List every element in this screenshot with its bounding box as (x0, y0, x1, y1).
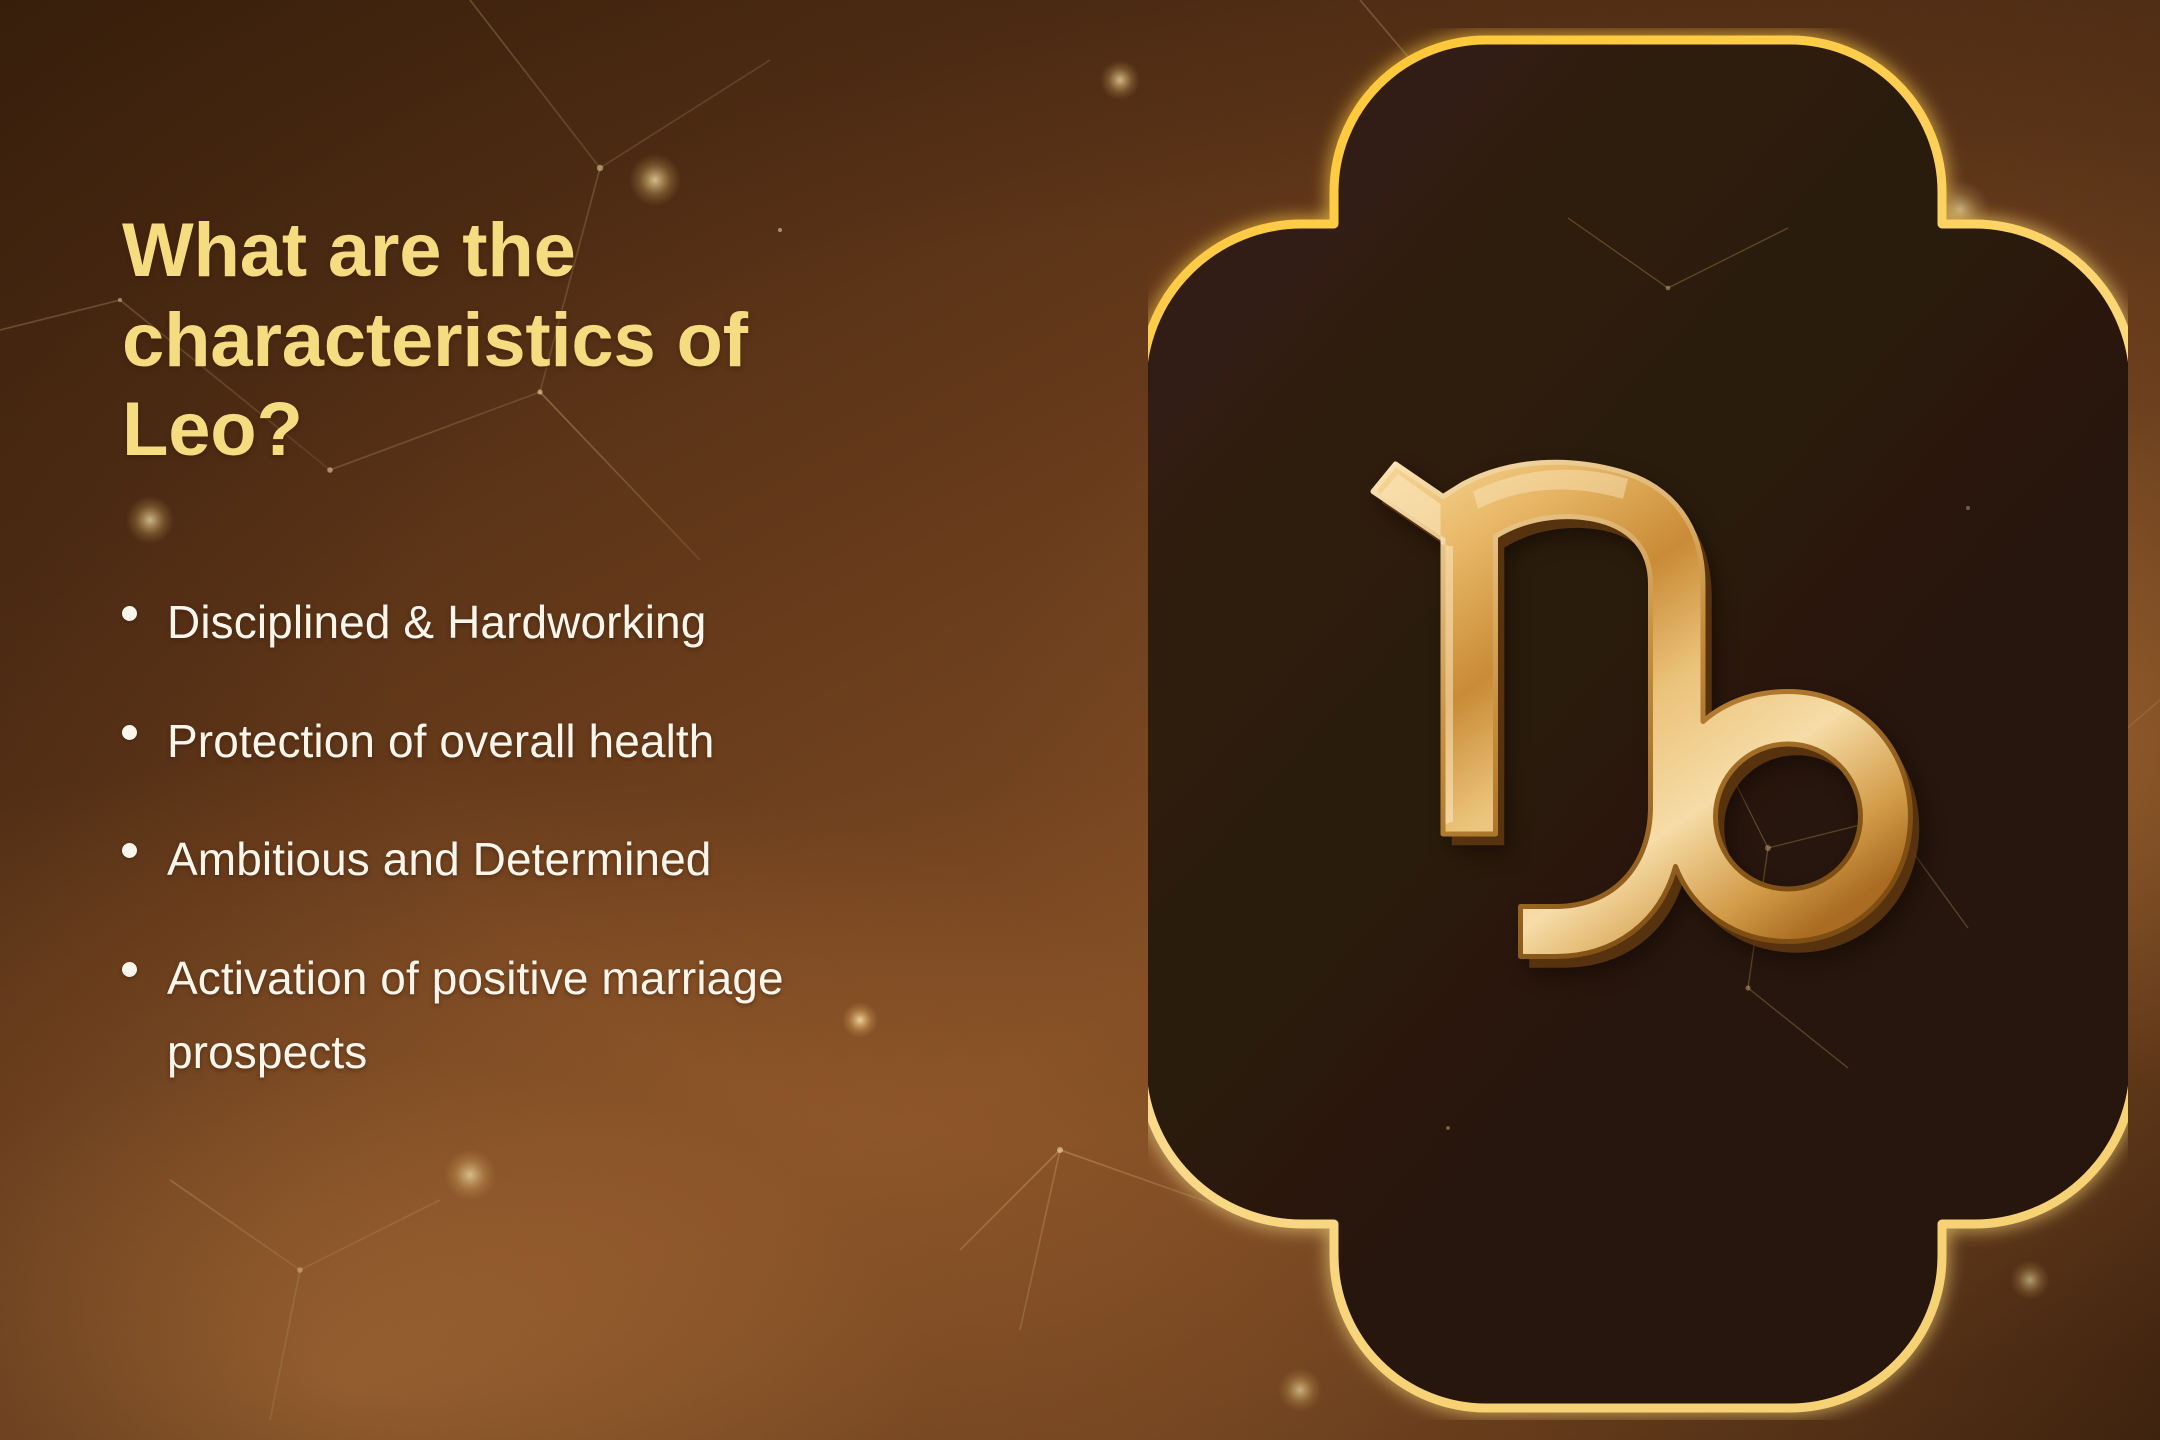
list-item-label: Ambitious and Determined (167, 822, 711, 897)
bullet-dot-icon (122, 725, 137, 740)
list-item-label: Protection of overall health (167, 704, 714, 779)
list-item: Disciplined & Hardworking (122, 585, 1102, 660)
list-item: Protection of overall health (122, 704, 1102, 779)
list-item-label: Disciplined & Hardworking (167, 585, 706, 660)
capricorn-zodiac-glyph-icon (1323, 409, 1963, 1049)
slide-canvas: What are the characteristics of Leo? Dis… (0, 0, 2160, 1440)
zodiac-symbol-container (1148, 28, 2128, 1420)
bullet-dot-icon (122, 606, 137, 621)
characteristics-list: Disciplined & Hardworking Protection of … (122, 585, 1102, 1090)
page-title-line-2: characteristics of (122, 298, 748, 383)
content-column: What are the characteristics of Leo? Dis… (122, 206, 1102, 1134)
list-item: Ambitious and Determined (122, 822, 1102, 897)
list-item: Activation of positive marriage prospect… (122, 941, 1102, 1090)
page-title-line-3: Leo? (122, 387, 303, 472)
list-item-label: Activation of positive marriage prospect… (167, 941, 957, 1090)
zodiac-card (1148, 28, 2128, 1420)
page-title-line-1: What are the (122, 208, 576, 293)
bullet-dot-icon (122, 843, 137, 858)
bullet-dot-icon (122, 962, 137, 977)
page-title: What are the characteristics of Leo? (122, 206, 1102, 475)
